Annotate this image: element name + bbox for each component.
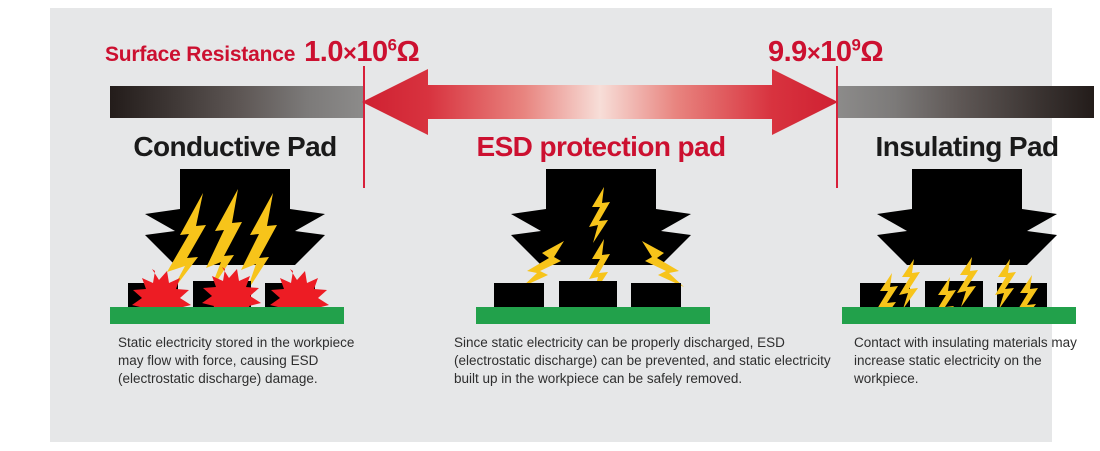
- workpiece-body-icon: [145, 169, 325, 265]
- column-esd-protection-pad: ESD protection pad Since st: [366, 132, 836, 401]
- green-base-icon: [476, 307, 710, 324]
- contact-blocks-icon: [494, 281, 681, 307]
- column-insulating-pad: Insulating Pad: [838, 132, 1096, 401]
- resistance-gradient-bar-right: [838, 86, 1094, 118]
- surface-resistance-title: Surface Resistance: [105, 44, 295, 65]
- caption-insulating-pad: Contact with insulating materials may in…: [838, 334, 1096, 388]
- left-base: 10: [356, 36, 387, 68]
- conductive-pad-figure: [110, 169, 360, 324]
- right-resistance-value: 9.9×109Ω: [768, 38, 883, 67]
- caption-conductive-pad: Static electricity stored in the workpie…: [106, 334, 364, 388]
- right-mantissa: 9.9: [768, 36, 807, 68]
- insulating-pad-figure: [842, 169, 1092, 324]
- workpiece-body-icon: [877, 169, 1057, 265]
- green-base-icon: [842, 307, 1076, 324]
- resistance-gradient-bar-left: [110, 86, 363, 118]
- left-unit: Ω: [397, 36, 420, 68]
- infographic-root: Surface Resistance 1.0×106Ω 9.9×109Ω: [0, 0, 1100, 451]
- heading-conductive-pad: Conductive Pad: [106, 132, 364, 163]
- surface-resistance-left-label: Surface Resistance 1.0×106Ω: [105, 38, 419, 67]
- right-times-symbol: ×: [807, 40, 820, 67]
- left-resistance-value: 1.0×106Ω: [304, 38, 419, 67]
- left-times-symbol: ×: [343, 40, 356, 67]
- right-unit: Ω: [860, 36, 883, 68]
- right-exponent: 9: [851, 35, 860, 54]
- right-base: 10: [820, 36, 851, 68]
- esd-protection-pad-figure: [476, 169, 726, 324]
- heading-esd-protection-pad: ESD protection pad: [366, 132, 836, 163]
- left-exponent: 6: [388, 35, 397, 54]
- left-mantissa: 1.0: [304, 36, 343, 68]
- content-panel: Surface Resistance 1.0×106Ω 9.9×109Ω: [50, 8, 1052, 442]
- column-conductive-pad: Conductive Pad: [106, 132, 364, 401]
- heading-insulating-pad: Insulating Pad: [838, 132, 1096, 163]
- green-base-icon: [110, 307, 344, 324]
- double-headed-arrow-icon: [362, 69, 838, 135]
- caption-esd-protection-pad: Since static electricity can be properly…: [366, 334, 836, 388]
